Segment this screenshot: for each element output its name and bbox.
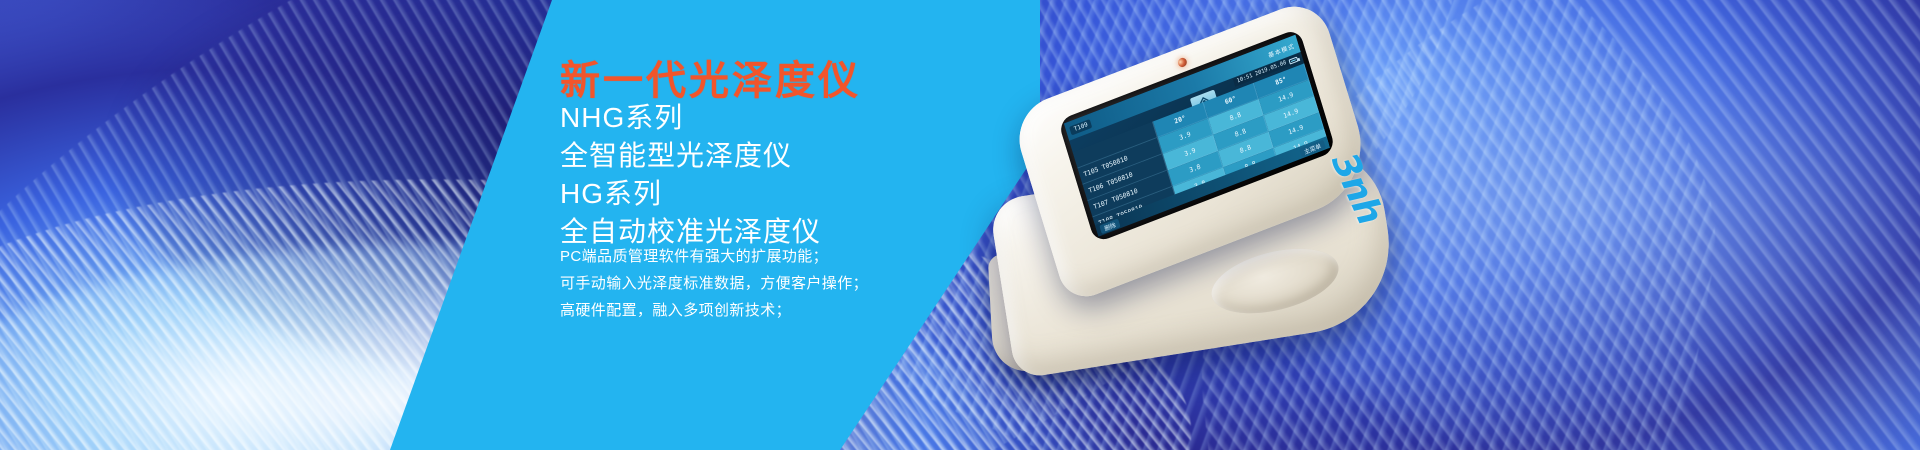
product-banner: 新一代光泽度仪 NHG系列 全智能型光泽度仪 HG系列 全自动校准光泽度仪 PC…: [0, 0, 1920, 450]
battery-icon: [1288, 56, 1298, 64]
feature-line-3: 高硬件配置，融入多项创新技术；: [560, 299, 791, 320]
subtitle-line-3: HG系列: [560, 172, 662, 212]
feature-line-1: PC端品质管理软件有强大的扩展功能；: [560, 245, 828, 266]
power-led-icon: [1176, 56, 1188, 69]
subtitle-line-1: NHG系列: [560, 96, 683, 136]
device-screen-bezel: T109 基本模式 10:51 2019.05.08: [1058, 28, 1336, 243]
screen-sample-tab[interactable]: T109: [1069, 118, 1093, 135]
gloss-meter-device: T109 基本模式 10:51 2019.05.08: [880, 20, 1440, 420]
device-screen[interactable]: T109 基本模式 10:51 2019.05.08: [1064, 35, 1330, 237]
subtitle-line-4: 全自动校准光泽度仪: [560, 210, 821, 250]
feature-line-2: 可手动输入光泽度标准数据，方便客户操作；: [560, 272, 868, 293]
subtitle-line-2: 全智能型光泽度仪: [560, 134, 792, 174]
